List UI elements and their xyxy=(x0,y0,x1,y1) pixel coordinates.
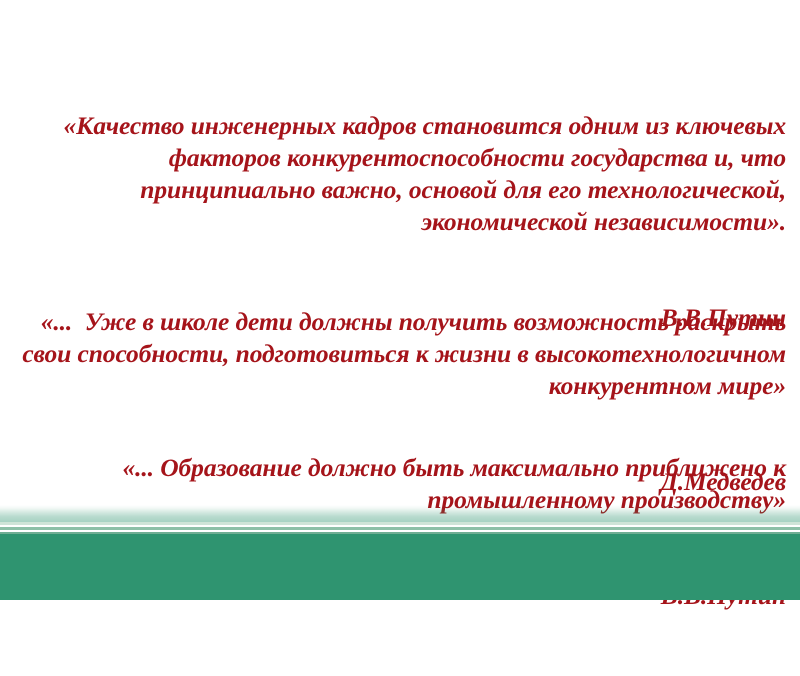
slide-canvas: «Качество инженерных кадров становится о… xyxy=(0,0,800,600)
band-solid-green xyxy=(0,534,800,600)
band-gradient-fade xyxy=(0,505,800,522)
quote-text: «Качество инженерных кадров становится о… xyxy=(14,110,786,238)
footer-decorative-band xyxy=(0,505,800,600)
quote-area: «Качество инженерных кадров становится о… xyxy=(0,0,800,505)
